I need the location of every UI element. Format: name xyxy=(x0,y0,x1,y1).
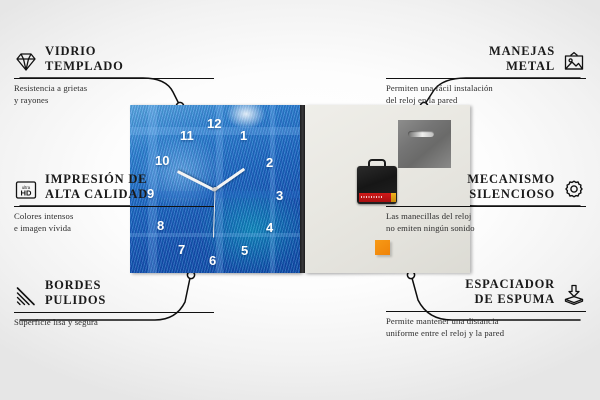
feature-desc-line1: Permite mantener una distancia xyxy=(386,316,586,328)
feature-desc-line1: Superficie lisa y segura xyxy=(14,317,214,329)
clock-numeral-3: 3 xyxy=(276,189,283,202)
feature-title-line1: BORDES xyxy=(45,278,106,293)
feature-desc-line2: del reloj en la pared xyxy=(386,95,586,107)
gear-icon xyxy=(562,178,586,202)
picture-hanger-icon xyxy=(562,50,586,74)
infographic-canvas: 12 1 2 3 4 5 6 7 8 9 10 11 xyxy=(0,0,600,400)
feature-divider xyxy=(14,78,214,79)
feature-title-line1: VIDRIO xyxy=(45,44,124,59)
feature-title-line1: ESPACIADOR xyxy=(465,277,555,292)
clock-numeral-10: 10 xyxy=(155,154,169,167)
feature-title-line2: SILENCIOSO xyxy=(467,187,555,202)
ultra-hd-icon: ultra HD xyxy=(14,178,38,202)
clock-numeral-2: 2 xyxy=(266,156,273,169)
clock-numeral-4: 4 xyxy=(266,221,273,234)
orange-foam-spacer xyxy=(375,240,390,255)
feature-bordes-pulidos: BORDES PULIDOS Superficie lisa y segura xyxy=(14,278,214,329)
svg-text:HD: HD xyxy=(21,188,32,197)
feature-desc-line2: no emiten ningún sonido xyxy=(386,223,586,235)
clock-numeral-7: 7 xyxy=(178,243,185,256)
feature-title-line2: TEMPLADO xyxy=(45,59,124,74)
feature-espaciador-espuma: ESPACIADOR DE ESPUMA Permite mantener un… xyxy=(386,277,586,340)
clock-numeral-6: 6 xyxy=(209,254,216,267)
feature-title-line2: METAL xyxy=(489,59,555,74)
feature-mecanismo-silencioso: MECANISMO SILENCIOSO Las manecillas del … xyxy=(386,172,586,235)
feature-title-line2: ALTA CALIDAD xyxy=(45,187,148,202)
clock-numeral-5: 5 xyxy=(241,244,248,257)
feature-title-line1: IMPRESIÓN DE xyxy=(45,172,148,187)
feature-desc-line1: Resistencia a grietas xyxy=(14,83,214,95)
feature-title-line1: MANEJAS xyxy=(489,44,555,59)
feature-desc-line1: Permiten una fácil instalación xyxy=(386,83,586,95)
feature-divider xyxy=(386,78,586,79)
clock-numeral-1: 1 xyxy=(240,129,247,142)
feature-title-line1: MECANISMO xyxy=(467,172,555,187)
clock-numeral-11: 11 xyxy=(180,129,194,142)
feature-desc-line1: Las manecillas del reloj xyxy=(386,211,586,223)
feature-title-line2: PULIDOS xyxy=(45,293,106,308)
clock-numeral-12: 12 xyxy=(207,117,221,130)
feature-divider xyxy=(14,312,214,313)
foam-spacer-icon xyxy=(562,283,586,307)
feature-desc-line2: uniforme entre el reloj y la pared xyxy=(386,328,586,340)
feature-impresion-alta-calidad: ultra HD IMPRESIÓN DE ALTA CALIDAD Color… xyxy=(14,172,214,235)
feature-desc-line2: e imagen vívida xyxy=(14,223,214,235)
feature-manejas-metal: MANEJAS METAL Permiten una fácil instala… xyxy=(386,44,586,107)
art-highlight xyxy=(226,105,266,129)
feature-vidrio-templado: VIDRIO TEMPLADO Resistencia a grietas y … xyxy=(14,44,214,107)
feature-desc-line1: Colores intensos xyxy=(14,211,214,223)
feature-divider xyxy=(386,311,586,312)
feature-desc-line2: y rayones xyxy=(14,95,214,107)
feature-divider xyxy=(386,206,586,207)
feature-divider xyxy=(14,206,214,207)
polished-edges-icon xyxy=(14,284,38,308)
diamond-icon xyxy=(14,50,38,74)
feature-title-line2: DE ESPUMA xyxy=(465,292,555,307)
metal-hanger-plate xyxy=(398,120,451,168)
